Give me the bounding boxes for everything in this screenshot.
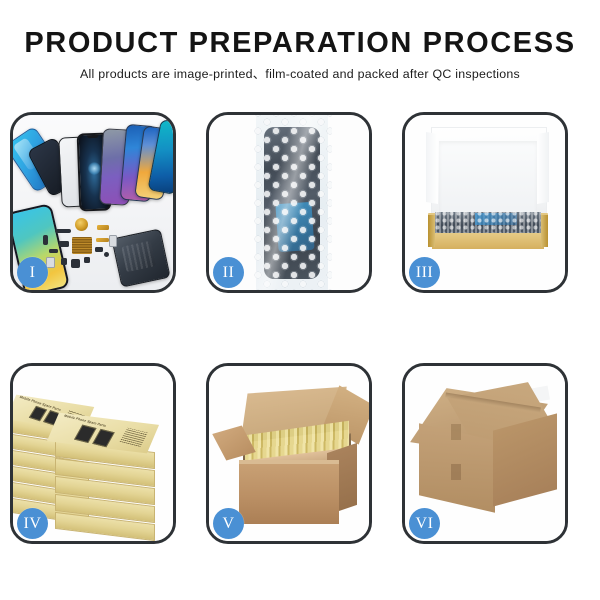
sealed-carton-tape-lower (451, 464, 461, 480)
part-camera-module (59, 241, 69, 247)
step-panel-5: V (206, 363, 372, 544)
part-screw-plate (95, 247, 103, 252)
process-steps-grid: I II (10, 112, 590, 544)
box-flap-right (537, 132, 549, 204)
step-badge-1: I (17, 257, 48, 288)
part-antenna-strip (55, 229, 71, 233)
step-panel-6: VI (402, 363, 568, 544)
film-gloss (254, 115, 332, 290)
box-label-lines-2 (119, 428, 148, 447)
part-logic-board (72, 237, 92, 254)
step-1-image: I (13, 115, 173, 290)
box-contents-bubble-texture (435, 211, 541, 235)
product-preparation-infographic: PRODUCT PREPARATION PROCESS All products… (0, 0, 600, 600)
part-taptic-engine (71, 259, 80, 268)
box-label-window-2b (92, 429, 115, 447)
page-title: PRODUCT PREPARATION PROCESS (0, 26, 600, 60)
part-ribbon (109, 235, 117, 247)
part-connector-a (49, 249, 58, 253)
step-badge-4: IV (17, 508, 48, 539)
step-badge-2: II (213, 257, 244, 288)
phone-back-shell-open (111, 228, 170, 287)
sealed-carton-tape-upper (451, 424, 461, 440)
part-flex-cable (46, 257, 55, 268)
page-subtitle: All products are image-printed、film-coat… (0, 66, 600, 82)
step-panel-1: I (10, 112, 176, 293)
carton-front-panel (239, 462, 339, 524)
step-2-image: II (209, 115, 369, 290)
step-badge-3: III (409, 257, 440, 288)
step-3-image: III (405, 115, 565, 290)
part-vibrator (104, 252, 109, 257)
step-5-image: V (209, 366, 369, 541)
box-corner-left (428, 215, 435, 247)
part-sim-tray (84, 257, 90, 263)
carton-front-edge (239, 460, 339, 464)
part-speaker-coil (75, 218, 88, 231)
step-panel-2: II (206, 112, 372, 293)
box-flap-left (426, 132, 438, 204)
step-6-image: VI (405, 366, 565, 541)
box-tray-front-panel (432, 233, 544, 249)
box-lid-inner (439, 141, 537, 217)
part-gold-shield (96, 238, 109, 242)
part-speaker (43, 235, 48, 245)
part-button-set (61, 258, 67, 265)
step-badge-6: VI (409, 508, 440, 539)
part-gold-bracket (97, 225, 109, 230)
step-panel-4: Mobile Phone Spare Parts Mobile Phone Sp… (10, 363, 176, 544)
step-badge-5: V (213, 508, 244, 539)
step-4-image: Mobile Phone Spare Parts Mobile Phone Sp… (13, 366, 173, 541)
step-panel-3: III (402, 112, 568, 293)
box-corner-right (541, 215, 548, 247)
header: PRODUCT PREPARATION PROCESS All products… (0, 26, 600, 82)
